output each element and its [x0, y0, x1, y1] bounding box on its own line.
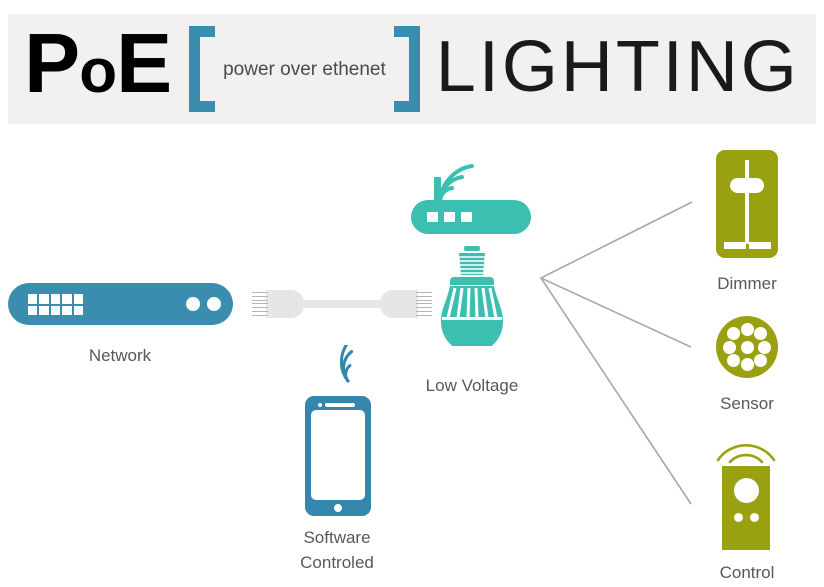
dimmer-button-icon[interactable]: [749, 242, 771, 249]
control-wifi-waves-icon: [712, 430, 780, 464]
label-sensor: Sensor: [667, 391, 824, 416]
rj45-pins-left-icon: [252, 292, 268, 316]
logo-lockup: PoE power over ethenet LIGHTING: [8, 14, 816, 124]
rj45-plug-left-icon: [266, 290, 304, 318]
switch-ports-icon: [28, 294, 83, 315]
sensor-dot-icon: [727, 354, 740, 367]
right-bracket-icon: [394, 26, 420, 112]
switch-led-icon: [186, 297, 200, 311]
rj45-pins-right-icon: [416, 292, 432, 316]
sensor-dot-icon: [754, 327, 767, 340]
router-leds-icon: [427, 212, 472, 222]
dimmer-track[interactable]: [745, 160, 749, 244]
rj45-plug-right-icon: [380, 290, 418, 318]
logo-letter-o: o: [79, 37, 116, 106]
sensor-dot-icon: [758, 341, 771, 354]
ethernet-cable-icon: [252, 288, 432, 320]
remote-button-icon[interactable]: [734, 513, 743, 522]
phone-screen[interactable]: [311, 410, 365, 500]
logo-letter-e: E: [116, 16, 171, 110]
phone-home-button-icon[interactable]: [334, 504, 342, 512]
sensor-icon[interactable]: [716, 316, 778, 378]
logo-letter-p: P: [24, 16, 79, 110]
phone-speaker-icon: [325, 403, 355, 407]
sensor-dot-icon: [754, 354, 767, 367]
sensor-dot-icon: [741, 341, 754, 354]
dimmer-button-icon[interactable]: [724, 242, 746, 249]
switch-led-icon: [207, 297, 221, 311]
remote-control-icon[interactable]: [722, 466, 770, 550]
wireless-router-icon[interactable]: [411, 200, 531, 234]
label-control: Control: [667, 560, 824, 585]
label-low-voltage: Low Voltage: [392, 373, 552, 398]
label-network: Network: [40, 343, 200, 368]
left-bracket-icon: [189, 26, 215, 112]
sensor-dot-icon: [741, 323, 754, 336]
logo-poe-text: PoE: [24, 21, 171, 114]
bracket-expansion-group: power over ethenet: [189, 26, 420, 112]
header-banner: PoE power over ethenet LIGHTING: [8, 14, 816, 124]
label-software-controled: Software Controled: [257, 525, 417, 575]
cable-wire: [294, 300, 390, 308]
label-dimmer: Dimmer: [667, 271, 824, 296]
dimmer-knob[interactable]: [730, 178, 764, 193]
network-switch-icon[interactable]: [8, 283, 233, 325]
smartphone-icon[interactable]: [305, 396, 371, 516]
phone-wifi-waves-icon: [338, 345, 386, 389]
led-bulb-icon[interactable]: [437, 246, 507, 346]
sensor-dot-icon: [741, 358, 754, 371]
remote-power-button-icon[interactable]: [734, 478, 759, 503]
bracket-expansion-text: power over ethenet: [215, 58, 394, 81]
sensor-dot-icon: [723, 341, 736, 354]
logo-lighting-text: LIGHTING: [436, 31, 800, 103]
sensor-dot-icon: [727, 327, 740, 340]
dimmer-slider-icon[interactable]: [716, 150, 778, 258]
phone-camera-icon: [318, 403, 322, 407]
remote-button-icon[interactable]: [750, 513, 759, 522]
